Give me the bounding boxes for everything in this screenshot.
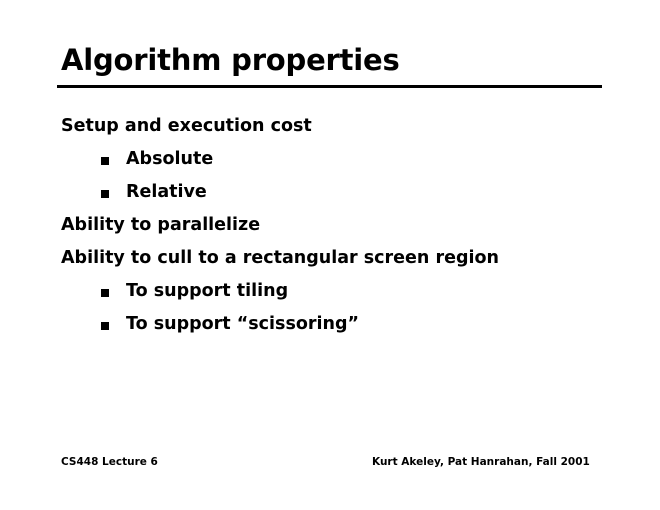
list-item-top: Setup and execution cost [61,110,621,143]
footer-course-label: CS448 Lecture 6 [61,455,158,469]
square-bullet-icon [101,190,109,198]
list-item: To support “scissoring” [61,308,621,341]
page-title: Algorithm properties [61,43,400,77]
square-bullet-icon [101,157,109,165]
title-divider [57,85,602,88]
footer-authors-label: Kurt Akeley, Pat Hanrahan, Fall 2001 [372,455,590,469]
list-item: Absolute [61,143,621,176]
list-item: To support tiling [61,275,621,308]
square-bullet-icon [101,322,109,330]
list-item-label: Ability to cull to a rectangular screen … [61,248,499,268]
bullet-list: Setup and execution costAbsoluteRelative… [61,110,621,341]
presentation-slide: Algorithm properties Setup and execution… [0,0,660,510]
list-item-top: Ability to cull to a rectangular screen … [61,242,621,275]
square-bullet-icon [101,289,109,297]
list-item: Relative [61,176,621,209]
list-item-label: Relative [126,182,207,202]
list-item-label: To support “scissoring” [126,314,359,334]
list-item-label: To support tiling [126,281,288,301]
list-item-label: Absolute [126,149,213,169]
list-item-label: Ability to parallelize [61,215,260,235]
list-item-top: Ability to parallelize [61,209,621,242]
list-item-label: Setup and execution cost [61,116,312,136]
